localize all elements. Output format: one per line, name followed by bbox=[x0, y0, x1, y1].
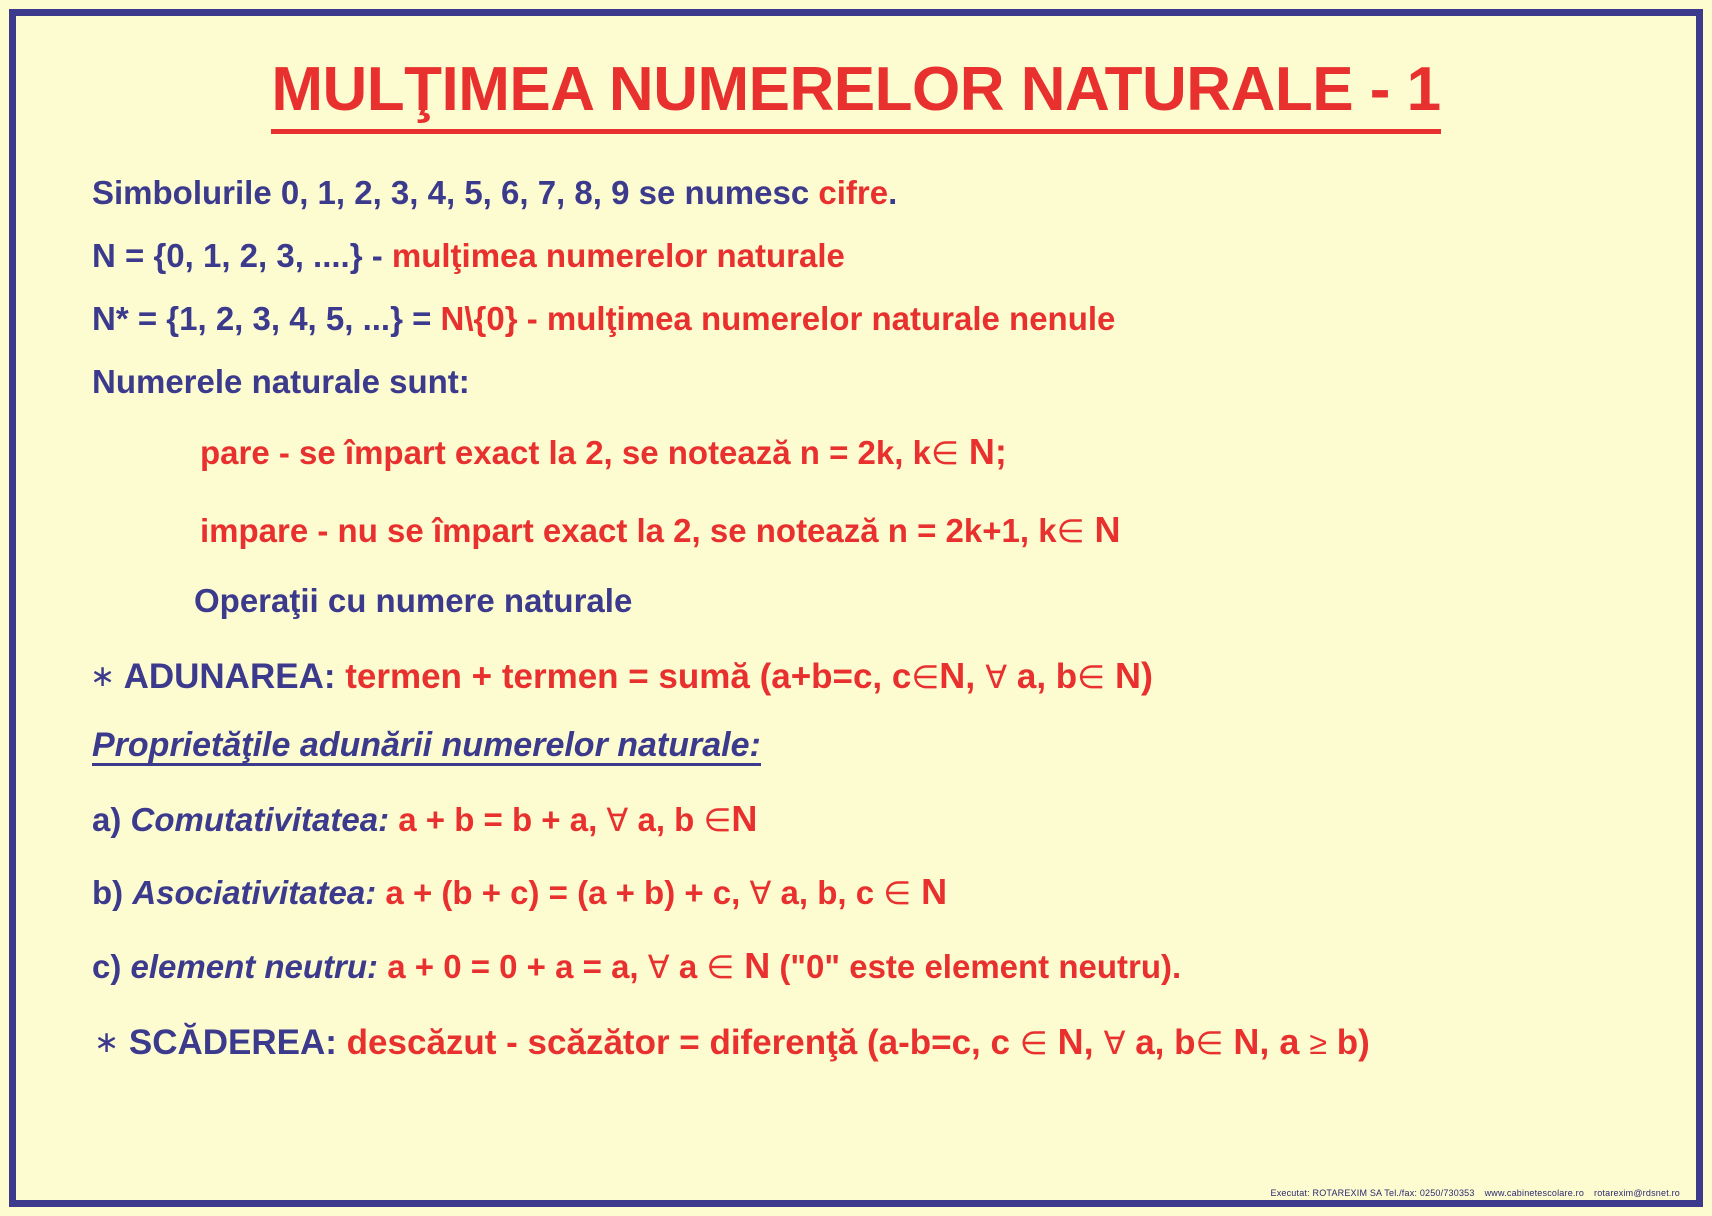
element-of-icon: ∈ bbox=[911, 659, 939, 695]
footer: Executat: ROTAREXIM SA Tel./fax: 0250/73… bbox=[16, 1184, 1696, 1200]
line8-label: ADUNAREA: bbox=[115, 657, 345, 696]
line11-marker: b) bbox=[92, 874, 132, 911]
line10-marker: a) bbox=[92, 801, 131, 838]
line13-formula: descăzut - scăzător = diferenţă (a-b=c, … bbox=[347, 1023, 1020, 1062]
text-line-impare: impare - nu se împart exact la 2, se not… bbox=[200, 512, 1120, 548]
line11-property-name: Asociativitatea: bbox=[132, 874, 376, 911]
element-of-icon: ∈ bbox=[883, 875, 911, 911]
text-line-multimea-n-star: N* = {1, 2, 3, 4, 5, ...} = N\{0} - mulţ… bbox=[92, 302, 1115, 335]
line10-formula: a + b = b + a, bbox=[389, 801, 606, 838]
line8-set-n-1: N, bbox=[939, 655, 985, 696]
poster-content: MULŢIMEA NUMERELOR NATURALE - 1 Simbolur… bbox=[16, 16, 1696, 1200]
line12-marker: c) bbox=[92, 948, 131, 985]
line6-text: impare - nu se împart exact la 2, se not… bbox=[200, 512, 1057, 549]
element-of-icon: ∈ bbox=[1077, 659, 1105, 695]
line10-set-n: N bbox=[731, 798, 757, 839]
text-line-numerele-sunt: Numerele naturale sunt: bbox=[92, 365, 470, 398]
text-line-scaderea: ∗ SCĂDEREA: descăzut - scăzător = difere… bbox=[94, 1024, 1370, 1060]
line10-property-name: Comutativitatea: bbox=[131, 801, 390, 838]
page-title: MULŢIMEA NUMERELOR NATURALE - 1 bbox=[16, 54, 1696, 134]
line8-formula: termen + termen = sumă (a+b=c, c bbox=[345, 657, 911, 696]
line2-set-notation: N = {0, 1, 2, 3, ....} - bbox=[92, 237, 392, 274]
line12-formula: a + 0 = 0 + a = a, bbox=[378, 948, 648, 985]
for-all-icon: ∀ bbox=[606, 802, 628, 838]
poster: MULŢIMEA NUMERELOR NATURALE - 1 Simbolur… bbox=[0, 0, 1712, 1216]
line3-set-notation: N* = {1, 2, 3, 4, 5, ...} = bbox=[92, 300, 441, 337]
greater-or-equal-icon: ≥ bbox=[1309, 1025, 1327, 1061]
element-of-icon: ∈ bbox=[704, 802, 732, 838]
text-line-simboluri: Simbolurile 0, 1, 2, 3, 4, 5, 6, 7, 8, 9… bbox=[92, 176, 897, 209]
line8-vars: a, b bbox=[1007, 657, 1077, 696]
for-all-icon: ∀ bbox=[750, 875, 772, 911]
line9-heading: Proprietăţile adunării numerelor natural… bbox=[92, 728, 761, 766]
line13-set-n-1: N, bbox=[1048, 1021, 1104, 1062]
page-title-text: MULŢIMEA NUMERELOR NATURALE - 1 bbox=[271, 54, 1440, 134]
line2-definition: mulţimea numerelor naturale bbox=[392, 237, 845, 274]
asterisk-icon: ∗ bbox=[90, 660, 115, 693]
line1-part-c: . bbox=[888, 174, 897, 211]
line1-part-a: Simbolurile 0, 1, 2, 3, 4, 5, 6, 7, 8, 9… bbox=[92, 174, 818, 211]
text-line-element-neutru: c) element neutru: a + 0 = 0 + a = a, ∀ … bbox=[92, 948, 1181, 984]
for-all-icon: ∀ bbox=[648, 949, 670, 985]
element-of-icon: ∈ bbox=[1020, 1025, 1048, 1061]
element-of-icon: ∈ bbox=[1057, 513, 1085, 549]
text-line-proprietati-heading: Proprietăţile adunării numerelor natural… bbox=[92, 728, 761, 766]
text-line-pare: pare - se împart exact la 2, se notează … bbox=[200, 434, 1007, 470]
line3-set-difference: N\{0} bbox=[441, 300, 518, 337]
line6-set-n: N bbox=[1084, 509, 1120, 550]
line11-formula: a + (b + c) = (a + b) + c, bbox=[376, 874, 749, 911]
line11-vars: a, b, c bbox=[771, 874, 883, 911]
footer-email: rotarexim@rdsnet.ro bbox=[1594, 1188, 1680, 1198]
line4-label: Numerele naturale sunt: bbox=[92, 363, 470, 400]
text-line-multimea-n: N = {0, 1, 2, 3, ....} - mulţimea numere… bbox=[92, 239, 845, 272]
line13-label: SCĂDEREA: bbox=[119, 1023, 347, 1062]
text-line-adunarea: ∗ ADUNAREA: termen + termen = sumă (a+b=… bbox=[90, 658, 1153, 694]
line3-definition: - mulţimea numerelor naturale nenule bbox=[518, 300, 1116, 337]
element-of-icon: ∈ bbox=[706, 949, 734, 985]
element-of-icon: ∈ bbox=[1196, 1025, 1224, 1061]
text-line-operatii-heading: Operaţii cu numere naturale bbox=[194, 584, 632, 617]
line13-set-n-2: N, a bbox=[1223, 1021, 1309, 1062]
line12-vars: a bbox=[670, 948, 707, 985]
line12-property-name: element neutru: bbox=[131, 948, 379, 985]
line5-set-n: N; bbox=[959, 431, 1007, 472]
text-line-comutativitatea: a) Comutativitatea: a + b = b + a, ∀ a, … bbox=[92, 801, 757, 837]
element-of-icon: ∈ bbox=[931, 435, 959, 471]
line13-vars: a, b bbox=[1125, 1023, 1195, 1062]
line12-set-n: N bbox=[734, 945, 770, 986]
footer-credit: Executat: ROTAREXIM SA Tel./fax: 0250/73… bbox=[1261, 1188, 1681, 1198]
for-all-icon: ∀ bbox=[1104, 1025, 1126, 1061]
line7-heading: Operaţii cu numere naturale bbox=[194, 582, 632, 619]
line5-text: pare - se împart exact la 2, se notează … bbox=[200, 434, 931, 471]
line12-note: ("0" este element neutru). bbox=[770, 948, 1181, 985]
asterisk-icon: ∗ bbox=[94, 1026, 119, 1059]
footer-executor: Executat: ROTAREXIM SA Tel./fax: 0250/73… bbox=[1271, 1188, 1475, 1198]
text-line-asociativitatea: b) Asociativitatea: a + (b + c) = (a + b… bbox=[92, 874, 947, 910]
line11-set-n: N bbox=[911, 871, 947, 912]
line13-end: b) bbox=[1327, 1023, 1370, 1062]
footer-website: www.cabinetescolare.ro bbox=[1485, 1188, 1584, 1198]
line8-set-n-2: N) bbox=[1105, 655, 1153, 696]
line10-vars: a, b bbox=[628, 801, 703, 838]
for-all-icon: ∀ bbox=[985, 659, 1007, 695]
line1-keyword-cifre: cifre bbox=[818, 174, 888, 211]
